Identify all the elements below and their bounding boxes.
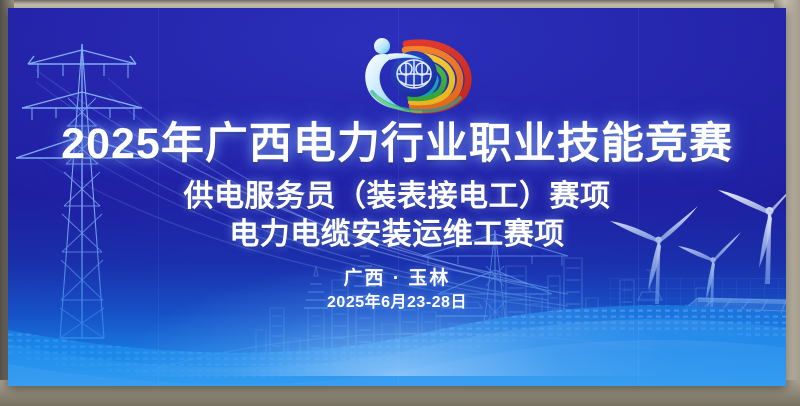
competition-emblem	[348, 24, 480, 116]
photo-scene: 2025年广西电力行业职业技能竞赛 供电服务员（装表接电工）赛项 电力电缆安装运…	[0, 0, 800, 406]
event-location: 广西 · 玉林	[8, 267, 786, 291]
page-title: 2025年广西电力行业职业技能竞赛	[8, 118, 786, 170]
panel-seam	[398, 8, 399, 386]
event-dates: 2025年6月23-28日	[8, 293, 786, 313]
subtitle-line-1: 供电服务员（装表接电工）赛项	[8, 178, 786, 216]
panel-seam	[638, 8, 639, 386]
subtitle-line-2: 电力电缆安装运维工赛项	[8, 216, 786, 254]
event-banner-board: 2025年广西电力行业职业技能竞赛 供电服务员（装表接电工）赛项 电力电缆安装运…	[8, 8, 786, 386]
emblem-glyph	[397, 60, 431, 88]
emblem-svg	[348, 24, 480, 116]
panel-seam	[158, 8, 159, 386]
